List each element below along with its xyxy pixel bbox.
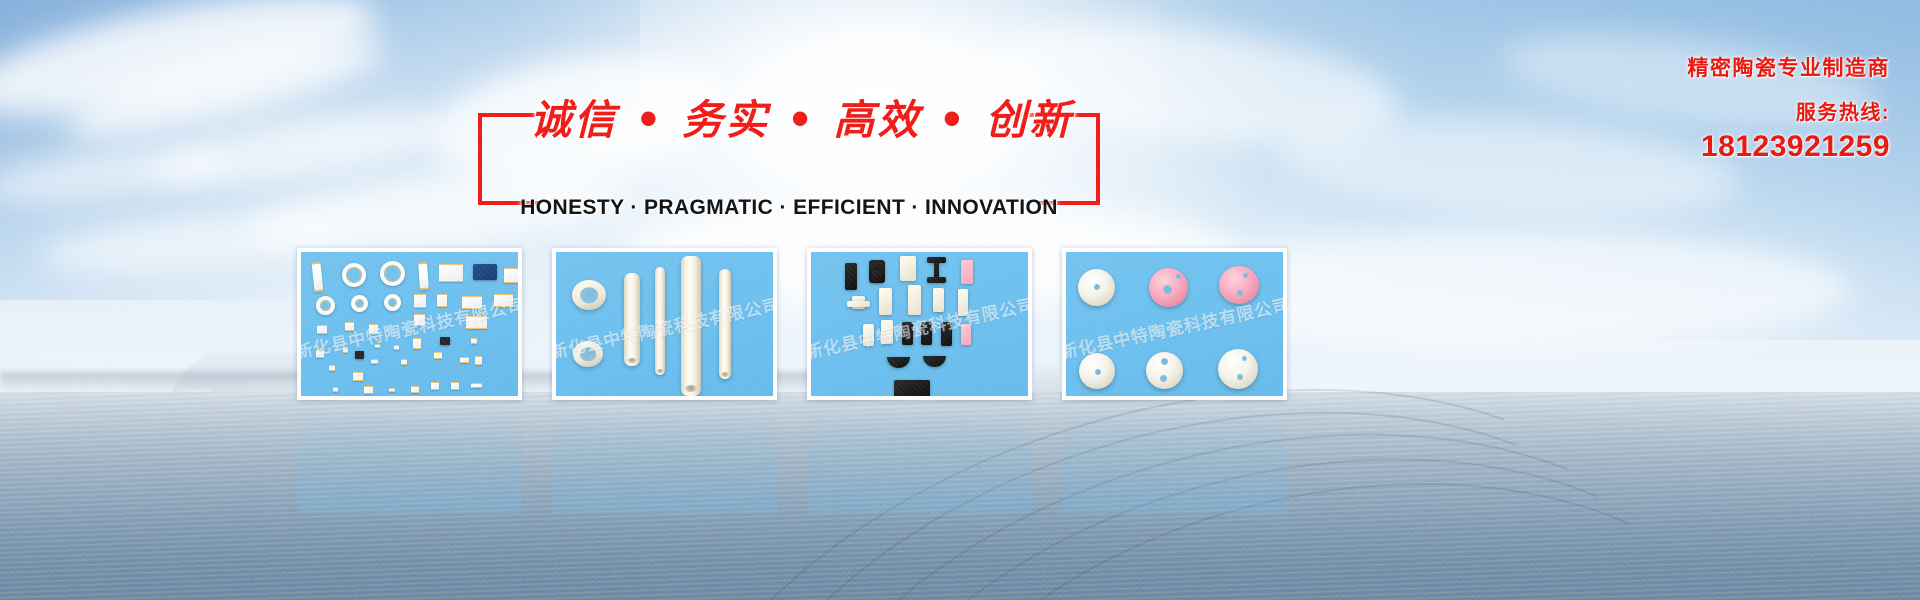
panel-reflection bbox=[807, 402, 1032, 514]
product-panel[interactable]: 新化县中特陶瓷科技有限公司 bbox=[297, 248, 522, 400]
slogan-english: HONESTY · PRAGMATIC · EFFICIENT · INNOVA… bbox=[518, 197, 1060, 218]
panel-reflection bbox=[1062, 402, 1287, 514]
panel-ceramic-rods: 新化县中特陶瓷科技有限公司 bbox=[556, 252, 773, 396]
product-panel[interactable]: 新化县中特陶瓷科技有限公司 bbox=[552, 248, 777, 400]
product-panel-row: 新化县中特陶瓷科技有限公司 bbox=[297, 248, 1587, 400]
slogan-chinese: 诚信 • 务实 • 高效 • 创新 bbox=[530, 100, 1048, 141]
panel-reflection bbox=[297, 402, 522, 514]
product-panel[interactable]: 新化县中特陶瓷科技有限公司 bbox=[807, 248, 1032, 400]
contact-block: 精密陶瓷专业制造商 服务热线: 18123921259 bbox=[1688, 52, 1891, 164]
bracket-left-edge bbox=[478, 113, 482, 205]
slogan-block: 诚信 • 务实 • 高效 • 创新 HONESTY · PRAGMATIC · … bbox=[478, 113, 1100, 205]
hotline-label: 服务热线: bbox=[1688, 96, 1891, 125]
panel-chip-components: 新化县中特陶瓷科技有限公司 bbox=[301, 252, 518, 396]
panel-ceramic-discs: 新化县中特陶瓷科技有限公司 bbox=[1066, 252, 1283, 396]
hero-banner: 诚信 • 务实 • 高效 • 创新 HONESTY · PRAGMATIC · … bbox=[0, 0, 1920, 600]
company-tagline: 精密陶瓷专业制造商 bbox=[1688, 52, 1891, 82]
product-panel[interactable]: 新化县中特陶瓷科技有限公司 bbox=[1062, 248, 1287, 400]
panel-reflection bbox=[552, 402, 777, 514]
panel-reflections bbox=[297, 402, 1587, 522]
bracket-right-edge bbox=[1096, 113, 1100, 205]
panel-ceramic-blocks: 新化县中特陶瓷科技有限公司 bbox=[811, 252, 1028, 396]
hotline-number[interactable]: 18123921259 bbox=[1688, 130, 1891, 164]
